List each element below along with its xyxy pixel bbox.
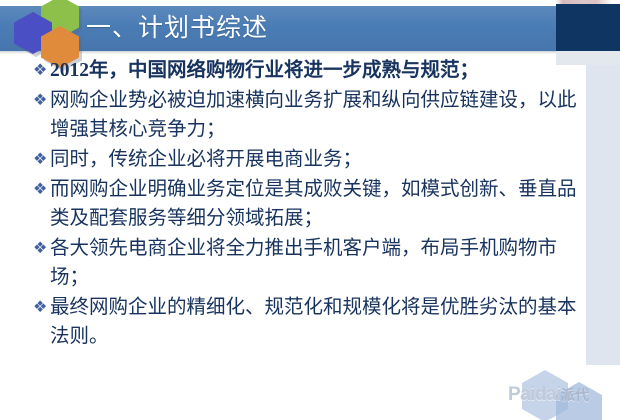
list-item: ❖ 2012年，中国网络购物行业将进一步成熟与规范；: [33, 56, 589, 85]
list-item: ❖ 最终网购企业的精细化、规范化和规模化将是优胜劣汰的基本法则。: [33, 293, 589, 351]
diamond-bullet-icon: ❖: [33, 56, 50, 85]
list-item: ❖ 网购企业势必被迫加速横向业务扩展和纵向供应链建设，以此增强其核心竞争力；: [33, 86, 589, 144]
diamond-bullet-icon: ❖: [33, 293, 50, 322]
slide-header-accent-block: [556, 4, 620, 51]
list-item: ❖ 各大领先电商企业将全力推出手机客户端，布局手机购物市场；: [33, 234, 589, 292]
list-item-text: 而网购企业明确业务定位是其成败关键，如模式创新、垂直品类及配套服务等细分领域拓展…: [50, 175, 589, 233]
list-item: ❖ 而网购企业明确业务定位是其成败关键，如模式创新、垂直品类及配套服务等细分领域…: [33, 175, 589, 233]
list-item-text: 最终网购企业的精细化、规范化和规模化将是优胜劣汰的基本法则。: [50, 293, 589, 351]
diamond-bullet-icon: ❖: [33, 145, 50, 174]
list-item-text: 各大领先电商企业将全力推出手机客户端，布局手机购物市场；: [50, 234, 589, 292]
watermark: Paidai派代: [494, 368, 620, 420]
slide-canvas: 一、计划书综述 ❖ 2012年，中国网络购物行业将进一步成熟与规范； ❖ 网购企…: [0, 0, 620, 420]
watermark-brand-cn: 派代: [561, 387, 589, 403]
right-edge-strip: [586, 65, 620, 365]
diamond-bullet-icon: ❖: [33, 86, 50, 115]
watermark-brand: Paidai: [508, 384, 561, 405]
bullet-list: ❖ 2012年，中国网络购物行业将进一步成熟与规范； ❖ 网购企业势必被迫加速横…: [33, 56, 589, 352]
list-item-text: 2012年，中国网络购物行业将进一步成熟与规范；: [50, 56, 589, 85]
list-item-text: 网购企业势必被迫加速横向业务扩展和纵向供应链建设，以此增强其核心竞争力；: [50, 86, 589, 144]
page-title: 一、计划书综述: [86, 6, 268, 51]
watermark-text: Paidai派代: [508, 384, 589, 406]
diamond-bullet-icon: ❖: [33, 175, 50, 204]
list-item: ❖ 同时，传统企业必将开展电商业务；: [33, 145, 589, 174]
list-item-text: 同时，传统企业必将开展电商业务；: [50, 145, 589, 174]
diamond-bullet-icon: ❖: [33, 234, 50, 263]
